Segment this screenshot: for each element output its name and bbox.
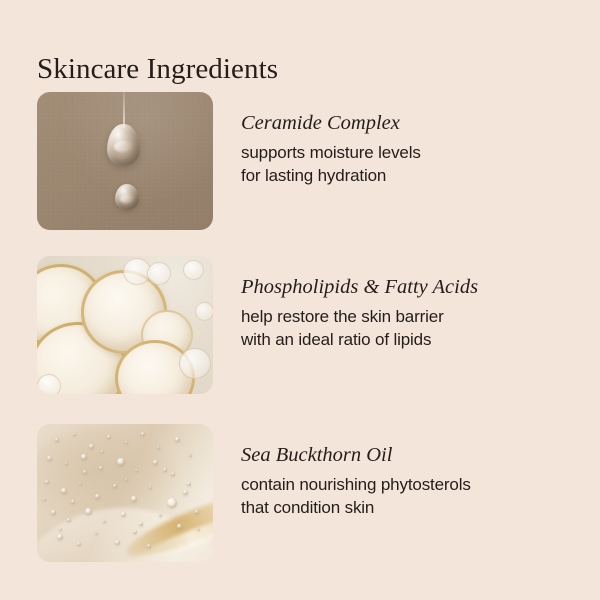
oil-bubble-shape [183, 260, 204, 280]
page-title: Skincare Ingredients [37, 52, 278, 87]
ingredient-description-line-2: with an ideal ratio of lipids [241, 328, 571, 351]
gel-bubble-shape [131, 496, 137, 502]
oil-bubble-shape [195, 302, 213, 321]
serum-droplet-large-shape [107, 124, 140, 166]
gel-bubble-shape [71, 500, 75, 504]
gel-bubble-shape [167, 498, 177, 508]
gel-bubble-shape [57, 534, 63, 540]
ingredient-copy-ceramide-complex: Ceramide Complex supports moisture level… [241, 111, 571, 188]
gel-bubble-shape [67, 518, 71, 522]
gel-bubble-shape [43, 498, 46, 501]
ingredient-name: Sea Buckthorn Oil [241, 443, 571, 469]
gel-bubble-shape [159, 514, 162, 517]
gel-bubble-shape [103, 520, 106, 523]
gel-bubble-shape [197, 528, 200, 531]
oil-bubble-shape [37, 374, 61, 394]
gel-bubble-shape [121, 512, 126, 517]
gel-bubble-shape [147, 544, 151, 548]
gel-bubble-shape [99, 466, 103, 470]
serum-thread-shape [123, 92, 125, 128]
gel-bubble-shape [125, 441, 128, 444]
gel-bubble-shape [189, 454, 192, 457]
ingredient-description-line-2: that condition skin [241, 496, 571, 519]
serum-droplet-small-shape [115, 184, 139, 210]
ingredient-description-line-1: help restore the skin barrier [241, 305, 571, 328]
gel-bubble-shape [85, 508, 92, 515]
ingredient-row-ceramide-complex: Ceramide Complex supports moisture level… [0, 92, 600, 230]
ingredient-image-ceramide-complex [37, 92, 213, 230]
gel-bubble-shape [79, 482, 82, 485]
ingredient-copy-phospholipids-fatty-acids: Phospholipids & Fatty Acids help restore… [241, 275, 571, 352]
gel-bubble-shape [73, 433, 76, 436]
gel-bubble-shape [133, 530, 137, 534]
gel-bubble-shape [175, 437, 180, 442]
gel-bubble-shape [51, 510, 56, 515]
gel-bubble-shape [81, 454, 87, 460]
gel-bubble-shape [115, 540, 120, 545]
ingredient-description-line-1: contain nourishing phytosterols [241, 473, 571, 496]
gel-bubble-shape [149, 486, 152, 489]
gel-bubble-shape [61, 488, 67, 494]
gel-bubble-shape [101, 450, 104, 453]
gel-bubble-shape [141, 432, 145, 436]
gel-bubble-shape [177, 524, 182, 529]
gel-bubble-shape [153, 460, 158, 465]
ingredient-row-sea-buckthorn-oil: Sea Buckthorn Oil contain nourishing phy… [0, 424, 600, 562]
gel-bubble-shape [195, 510, 199, 514]
gel-bubble-shape [183, 490, 188, 495]
ingredient-description-line-2: for lasting hydration [241, 164, 571, 187]
ingredient-name: Ceramide Complex [241, 111, 571, 137]
gel-bubble-shape [95, 532, 98, 535]
gel-bubble-shape [47, 456, 52, 461]
gel-bubble-shape [77, 542, 81, 546]
gel-bubble-shape [59, 528, 62, 531]
gel-bubble-shape [55, 438, 59, 442]
gel-bubble-shape [113, 484, 117, 488]
gel-bubble-shape [187, 482, 191, 486]
ingredient-image-phospholipids-fatty-acids [37, 256, 213, 394]
gel-bubble-shape [117, 458, 125, 466]
oil-bubble-shape [179, 348, 211, 379]
gel-bubble-shape [135, 469, 138, 472]
ingredient-copy-sea-buckthorn-oil: Sea Buckthorn Oil contain nourishing phy… [241, 443, 571, 520]
gel-bubble-shape [95, 494, 100, 499]
oil-bubble-shape [147, 262, 171, 285]
gel-bubble-shape [89, 444, 94, 449]
gel-bubble-shape [139, 522, 143, 526]
gel-bubble-shape [163, 468, 167, 472]
infographic-page: Skincare Ingredients Ceramide Complex su… [0, 0, 600, 600]
gel-bubble-shape [45, 480, 49, 484]
gel-bubble-shape [107, 435, 111, 439]
ingredient-row-phospholipids-fatty-acids: Phospholipids & Fatty Acids help restore… [0, 256, 600, 394]
gel-bubble-shape [83, 470, 87, 474]
gel-bubble-shape [65, 462, 68, 465]
ingredient-description-line-1: supports moisture levels [241, 141, 571, 164]
gel-bubble-shape [125, 478, 128, 481]
gel-bubble-shape [157, 446, 160, 449]
ingredient-image-sea-buckthorn-oil [37, 424, 213, 562]
gel-bubble-shape [171, 472, 175, 476]
ingredient-name: Phospholipids & Fatty Acids [241, 275, 571, 301]
